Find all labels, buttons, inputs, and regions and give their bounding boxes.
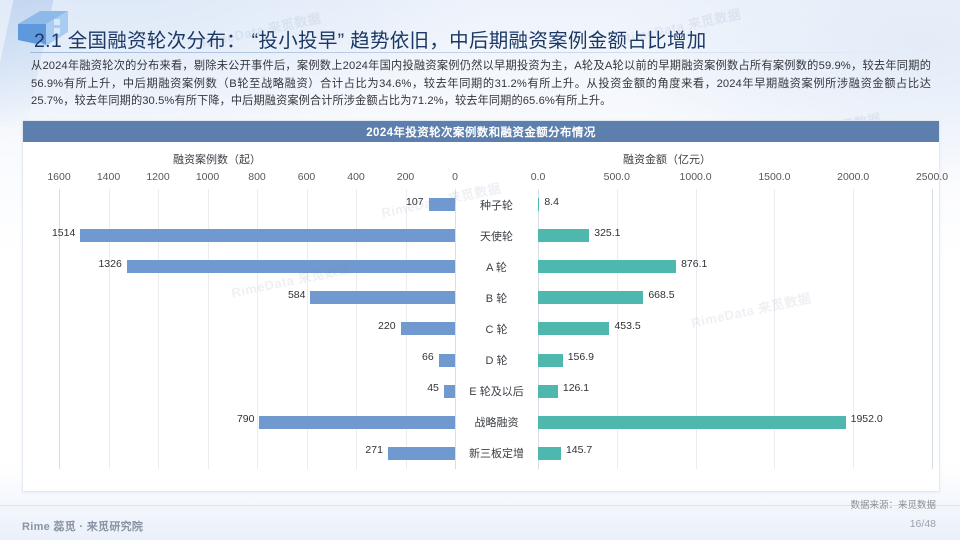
axis-tick-label: 2500.0 [916, 171, 948, 183]
bar-case-count[interactable] [444, 385, 455, 398]
source-note: 数据来源：来觅数据 [850, 497, 936, 511]
page-number: 16/48 [910, 518, 936, 530]
axis-tick-label: 600 [298, 171, 316, 183]
axis-tick-label: 2000.0 [837, 171, 869, 183]
category-label: B 轮 [455, 282, 538, 313]
category-label: 战略融资 [455, 407, 538, 438]
bar-value-label: 156.9 [568, 351, 594, 363]
axis-tick-label: 800 [248, 171, 266, 183]
table-row: 8.4 [538, 189, 932, 220]
bar-case-count[interactable] [80, 229, 455, 242]
bar-value-label: 668.5 [648, 289, 674, 301]
bar-case-count[interactable] [259, 416, 455, 429]
axis-tick-label: 1000.0 [680, 171, 712, 183]
category-label: C 轮 [455, 313, 538, 344]
bar-value-label: 790 [237, 413, 255, 425]
bar-value-label: 876.1 [681, 258, 707, 270]
bar-funding-amount[interactable] [538, 416, 846, 429]
title-divider [30, 52, 930, 53]
bar-funding-amount[interactable] [538, 354, 563, 367]
table-row: 145.7 [538, 438, 932, 469]
bar-value-label: 66 [422, 351, 434, 363]
table-row: 876.1 [538, 251, 932, 282]
category-label: 新三板定增 [455, 438, 538, 469]
axis-tick-label: 1200 [146, 171, 169, 183]
bar-value-label: 584 [288, 289, 306, 301]
bar-value-label: 126.1 [563, 382, 589, 394]
table-row: 453.5 [538, 313, 932, 344]
bar-case-count[interactable] [388, 447, 455, 460]
bar-case-count[interactable] [401, 322, 455, 335]
right-plot-area: 8.4325.1876.1668.5453.5156.9126.11952.01… [538, 189, 932, 469]
bar-value-label: 45 [427, 382, 439, 394]
axis-tick-label: 1600 [47, 171, 70, 183]
bar-funding-amount[interactable] [538, 229, 589, 242]
category-label: 天使轮 [455, 220, 538, 251]
bar-value-label: 145.7 [566, 444, 592, 456]
page-title: 2.1 全国融资轮次分布： “投小投早” 趋势依旧，中后期融资案例金额占比增加 [34, 24, 707, 53]
body-paragraph: 从2024年融资轮次的分布来看，剔除未公开事件后，案例数上2024年国内投融资案… [31, 58, 931, 111]
axis-tick-label: 0 [452, 171, 458, 183]
table-row: 668.5 [538, 282, 932, 313]
bar-funding-amount[interactable] [538, 198, 539, 211]
bar-value-label: 271 [365, 444, 383, 456]
table-row: 271 [59, 438, 455, 469]
axis-tick-label: 1500.0 [758, 171, 790, 183]
table-row: 45 [59, 376, 455, 407]
category-label: 种子轮 [455, 189, 538, 220]
category-labels: 种子轮天使轮A 轮B 轮C 轮D 轮E 轮及以后战略融资新三板定增 [455, 189, 538, 469]
left-axis-title: 融资案例数（起） [173, 151, 261, 167]
axis-tick-label: 0.0 [531, 171, 546, 183]
gridline [932, 189, 933, 469]
bar-case-count[interactable] [439, 354, 455, 367]
right-axis-ticks: 0.0500.01000.01500.02000.02500.0 [538, 171, 932, 185]
bar-funding-amount[interactable] [538, 385, 558, 398]
bar-case-count[interactable] [310, 291, 455, 304]
table-row: 325.1 [538, 220, 932, 251]
bar-funding-amount[interactable] [538, 291, 643, 304]
table-row: 156.9 [538, 345, 932, 376]
table-row: 66 [59, 345, 455, 376]
bar-value-label: 8.4 [544, 196, 559, 208]
bar-value-label: 107 [406, 196, 424, 208]
category-label: D 轮 [455, 345, 538, 376]
table-row: 584 [59, 282, 455, 313]
right-axis-title: 融资金额（亿元） [623, 151, 711, 167]
bar-funding-amount[interactable] [538, 447, 561, 460]
footer-divider [0, 505, 960, 506]
bar-value-label: 1952.0 [851, 413, 883, 425]
left-axis-ticks: 16001400120010008006004002000 [59, 171, 455, 185]
bar-case-count[interactable] [429, 198, 455, 211]
table-row: 126.1 [538, 376, 932, 407]
category-label: A 轮 [455, 251, 538, 282]
category-label: E 轮及以后 [455, 376, 538, 407]
table-row: 1514 [59, 220, 455, 251]
left-plot-area: 107151413265842206645790271 [59, 189, 455, 469]
chart-card: 2024年投资轮次案例数和融资金额分布情况 融资案例数（起） 融资金额（亿元） … [22, 120, 940, 492]
axis-tick-label: 400 [347, 171, 365, 183]
table-row: 1952.0 [538, 407, 932, 438]
axis-tick-label: 1400 [97, 171, 120, 183]
table-row: 790 [59, 407, 455, 438]
axis-tick-label: 1000 [196, 171, 219, 183]
table-row: 107 [59, 189, 455, 220]
chart-title: 2024年投资轮次案例数和融资金额分布情况 [23, 121, 939, 142]
bar-funding-amount[interactable] [538, 322, 609, 335]
bar-value-label: 1514 [52, 227, 75, 239]
table-row: 220 [59, 313, 455, 344]
bar-value-label: 325.1 [594, 227, 620, 239]
bar-case-count[interactable] [127, 260, 455, 273]
bar-value-label: 453.5 [614, 320, 640, 332]
table-row: 1326 [59, 251, 455, 282]
bar-funding-amount[interactable] [538, 260, 676, 273]
bar-value-label: 1326 [98, 258, 121, 270]
axis-tick-label: 500.0 [604, 171, 630, 183]
axis-tick-label: 200 [397, 171, 415, 183]
bar-value-label: 220 [378, 320, 396, 332]
brand-logo: Rime 蕊觅 · 来觅研究院 [22, 518, 143, 534]
